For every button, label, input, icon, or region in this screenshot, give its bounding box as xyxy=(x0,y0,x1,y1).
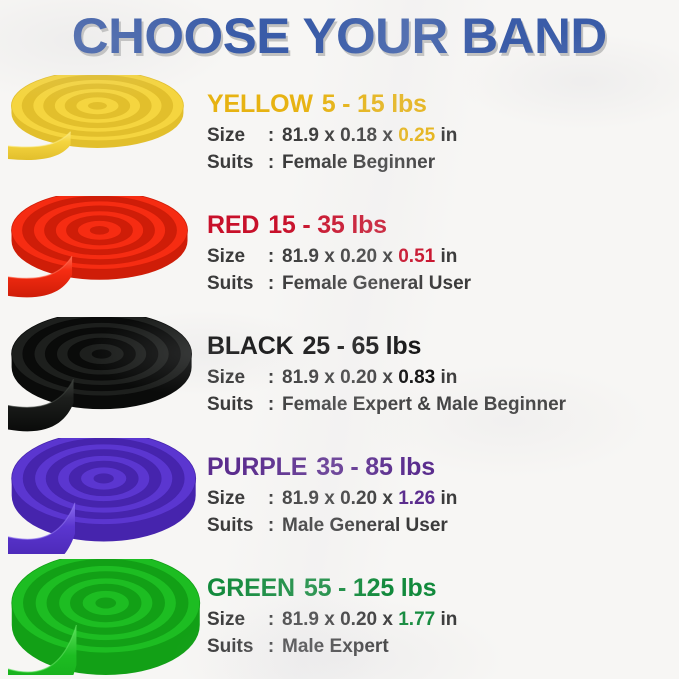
size-thickness: 0.25 xyxy=(398,125,435,146)
size-unit: in xyxy=(440,488,457,509)
band-specs: Size:81.9 x 0.20 x 1.77 inSuits:Male Exp… xyxy=(207,606,679,660)
band-row: RED15 - 35 lbsSize:81.9 x 0.20 x 0.51 in… xyxy=(0,193,679,314)
band-resistance-range: 5 - 15 lbs xyxy=(322,90,427,118)
band-coil-graphic xyxy=(8,196,205,312)
band-heading: RED15 - 35 lbs xyxy=(207,211,679,240)
band-heading: GREEN55 - 125 lbs xyxy=(207,574,679,603)
size-thickness: 1.26 xyxy=(398,488,435,509)
band-resistance-range: 35 - 85 lbs xyxy=(316,453,435,481)
band-coil-graphic xyxy=(8,438,205,554)
size-label: Size xyxy=(207,122,265,149)
size-label: Size xyxy=(207,485,265,512)
size-label: Size xyxy=(207,364,265,391)
suits-colon: : xyxy=(265,633,277,660)
band-info: YELLOW5 - 15 lbsSize:81.9 x 0.18 x 0.25 … xyxy=(205,90,679,176)
size-value: 81.9 x 0.20 x 0.83 in xyxy=(277,364,679,391)
size-dimensions: 81.9 x 0.18 x xyxy=(282,125,393,146)
suits-label: Suits xyxy=(207,633,265,660)
band-list: YELLOW5 - 15 lbsSize:81.9 x 0.18 x 0.25 … xyxy=(0,72,679,677)
suits-value: Female Beginner xyxy=(277,149,679,176)
band-name: RED xyxy=(207,211,259,239)
band-image-black xyxy=(0,314,205,435)
band-heading: YELLOW5 - 15 lbs xyxy=(207,90,679,119)
size-dimensions: 81.9 x 0.20 x xyxy=(282,609,393,630)
band-row: BLACK25 - 65 lbsSize:81.9 x 0.20 x 0.83 … xyxy=(0,314,679,435)
band-row: GREEN55 - 125 lbsSize:81.9 x 0.20 x 1.77… xyxy=(0,556,679,677)
size-value: 81.9 x 0.20 x 1.26 in xyxy=(277,485,679,512)
suits-value: Female Expert & Male Beginner xyxy=(277,391,679,418)
band-image-green xyxy=(0,556,205,677)
band-name: PURPLE xyxy=(207,453,307,481)
size-value: 81.9 x 0.20 x 1.77 in xyxy=(277,606,679,633)
suits-value: Male General User xyxy=(277,512,679,539)
band-image-purple xyxy=(0,435,205,556)
band-name: GREEN xyxy=(207,574,295,602)
size-thickness: 0.83 xyxy=(398,367,435,388)
size-label: Size xyxy=(207,243,265,270)
page-title: CHOOSE YOUR BAND xyxy=(72,11,607,61)
suits-value: Male Expert xyxy=(277,633,679,660)
suits-colon: : xyxy=(265,512,277,539)
band-row: YELLOW5 - 15 lbsSize:81.9 x 0.18 x 0.25 … xyxy=(0,72,679,193)
band-row: PURPLE35 - 85 lbsSize:81.9 x 0.20 x 1.26… xyxy=(0,435,679,556)
size-colon: : xyxy=(265,606,277,633)
band-resistance-range: 25 - 65 lbs xyxy=(303,332,422,360)
size-colon: : xyxy=(265,485,277,512)
band-info: BLACK25 - 65 lbsSize:81.9 x 0.20 x 0.83 … xyxy=(205,332,679,418)
suits-label: Suits xyxy=(207,270,265,297)
band-specs: Size:81.9 x 0.20 x 0.83 inSuits:Female E… xyxy=(207,364,679,418)
size-thickness: 1.77 xyxy=(398,609,435,630)
suits-colon: : xyxy=(265,391,277,418)
choose-your-band-infographic: CHOOSE YOUR BAND YELLOW5 - 15 lbsSize:81… xyxy=(0,0,679,679)
suits-label: Suits xyxy=(207,391,265,418)
band-image-red xyxy=(0,193,205,314)
band-coil-graphic xyxy=(8,75,205,191)
size-dimensions: 81.9 x 0.20 x xyxy=(282,488,393,509)
band-name: BLACK xyxy=(207,332,294,360)
band-info: RED15 - 35 lbsSize:81.9 x 0.20 x 0.51 in… xyxy=(205,211,679,297)
band-specs: Size:81.9 x 0.18 x 0.25 inSuits:Female B… xyxy=(207,122,679,176)
size-label: Size xyxy=(207,606,265,633)
band-info: PURPLE35 - 85 lbsSize:81.9 x 0.20 x 1.26… xyxy=(205,453,679,539)
band-coil-graphic xyxy=(8,559,205,675)
size-value: 81.9 x 0.18 x 0.25 in xyxy=(277,122,679,149)
size-thickness: 0.51 xyxy=(398,246,435,267)
band-image-yellow xyxy=(0,72,205,193)
size-colon: : xyxy=(265,122,277,149)
size-unit: in xyxy=(440,609,457,630)
size-unit: in xyxy=(440,246,457,267)
size-dimensions: 81.9 x 0.20 x xyxy=(282,367,393,388)
size-dimensions: 81.9 x 0.20 x xyxy=(282,246,393,267)
suits-colon: : xyxy=(265,270,277,297)
band-info: GREEN55 - 125 lbsSize:81.9 x 0.20 x 1.77… xyxy=(205,574,679,660)
band-specs: Size:81.9 x 0.20 x 1.26 inSuits:Male Gen… xyxy=(207,485,679,539)
band-coil-graphic xyxy=(8,317,205,433)
size-value: 81.9 x 0.20 x 0.51 in xyxy=(277,243,679,270)
band-heading: PURPLE35 - 85 lbs xyxy=(207,453,679,482)
size-unit: in xyxy=(440,125,457,146)
band-resistance-range: 55 - 125 lbs xyxy=(304,574,436,602)
band-specs: Size:81.9 x 0.20 x 0.51 inSuits:Female G… xyxy=(207,243,679,297)
size-colon: : xyxy=(265,364,277,391)
size-unit: in xyxy=(440,367,457,388)
size-colon: : xyxy=(265,243,277,270)
suits-label: Suits xyxy=(207,512,265,539)
band-name: YELLOW xyxy=(207,90,313,118)
suits-value: Female General User xyxy=(277,270,679,297)
header: CHOOSE YOUR BAND xyxy=(0,0,679,72)
band-heading: BLACK25 - 65 lbs xyxy=(207,332,679,361)
band-resistance-range: 15 - 35 lbs xyxy=(268,211,387,239)
suits-colon: : xyxy=(265,149,277,176)
suits-label: Suits xyxy=(207,149,265,176)
